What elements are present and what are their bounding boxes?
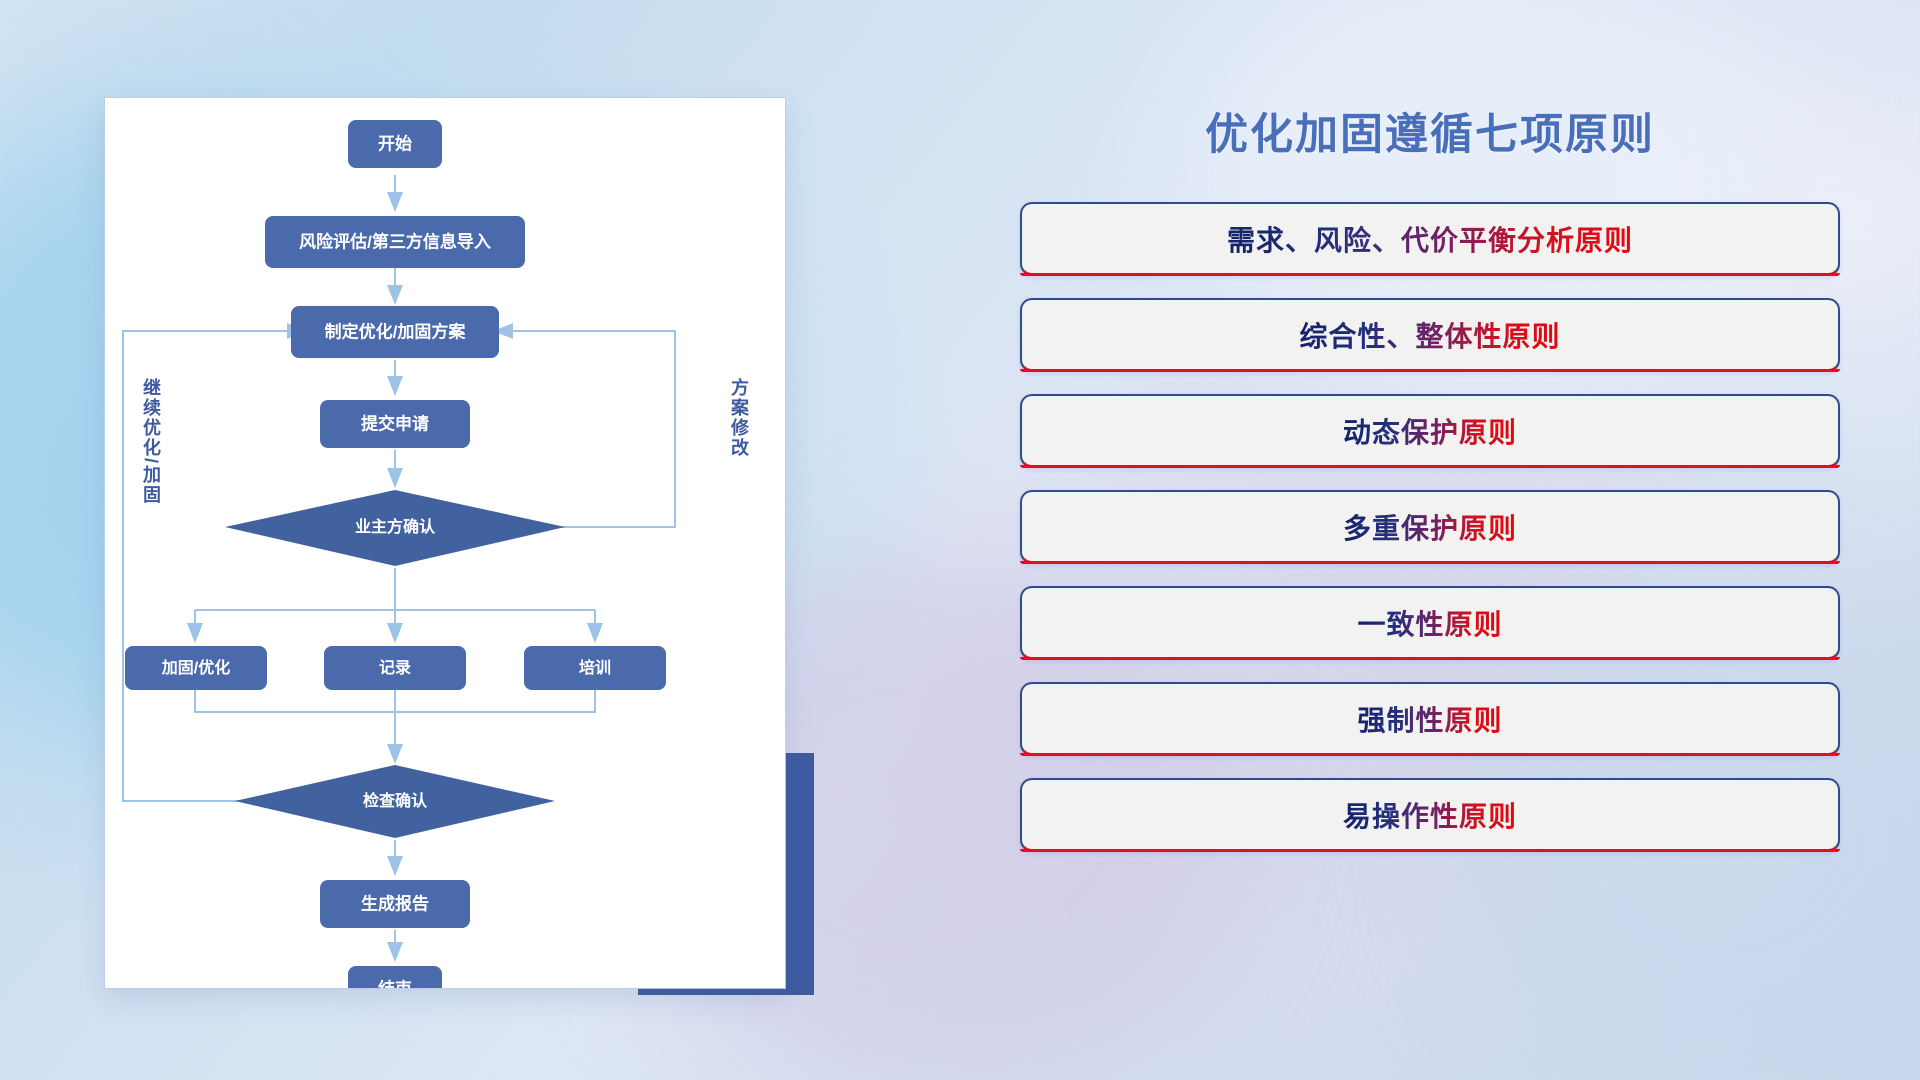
flow-node-report[interactable]: 生成报告 bbox=[320, 880, 470, 928]
flow-node-label: 检查确认 bbox=[363, 791, 428, 810]
principle-label: 一致性原则 bbox=[1357, 603, 1502, 643]
flow-node-label: 培训 bbox=[579, 658, 611, 677]
flowchart-diagram: 开始 风险评估/第三方信息导入 制定优化/加固方案 提交申请 业主方确认 加固/… bbox=[105, 98, 785, 988]
principle-label: 强制性原则 bbox=[1357, 699, 1502, 739]
flow-node-label: 加固/优化 bbox=[161, 658, 230, 677]
principle-card-5[interactable]: 一致性原则 bbox=[1020, 586, 1840, 660]
flow-node-label: 风险评估/第三方信息导入 bbox=[299, 231, 491, 251]
flow-edges bbox=[123, 175, 675, 960]
flow-node-training[interactable]: 培训 bbox=[524, 646, 666, 690]
flow-node-record[interactable]: 记录 bbox=[324, 646, 466, 690]
flow-node-risk[interactable]: 风险评估/第三方信息导入 bbox=[265, 216, 525, 268]
flow-node-label: 业主方确认 bbox=[355, 517, 436, 536]
flow-edge-label-plan-revision: 方案修改 bbox=[730, 378, 748, 458]
principle-label: 动态保护原则 bbox=[1343, 411, 1517, 451]
principle-label: 综合性、整体性原则 bbox=[1299, 315, 1560, 355]
principle-card-6[interactable]: 强制性原则 bbox=[1020, 682, 1840, 756]
principle-card-7[interactable]: 易操作性原则 bbox=[1020, 778, 1840, 852]
flow-node-start[interactable]: 开始 bbox=[348, 120, 442, 168]
flow-node-label: 生成报告 bbox=[361, 893, 429, 913]
flow-edge-label-continue-optimize: 继续优化/加固 bbox=[142, 378, 160, 505]
principle-label: 易操作性原则 bbox=[1343, 795, 1517, 835]
principle-label: 需求、风险、代价平衡分析原则 bbox=[1227, 219, 1633, 259]
principles-title: 优化加固遵循七项原则 bbox=[1020, 100, 1840, 162]
principle-card-3[interactable]: 动态保护原则 bbox=[1020, 394, 1840, 468]
flow-node-owner-confirm[interactable]: 业主方确认 bbox=[225, 490, 565, 566]
principle-card-2[interactable]: 综合性、整体性原则 bbox=[1020, 298, 1840, 372]
flow-node-label: 记录 bbox=[379, 659, 411, 677]
flow-node-label: 提交申请 bbox=[361, 413, 429, 433]
flow-node-label: 结束 bbox=[378, 978, 412, 988]
flow-node-label: 制定优化/加固方案 bbox=[325, 321, 467, 341]
flow-node-submit[interactable]: 提交申请 bbox=[320, 400, 470, 448]
flow-node-label: 开始 bbox=[378, 133, 412, 153]
flow-node-reinforce[interactable]: 加固/优化 bbox=[125, 646, 267, 690]
principle-label: 多重保护原则 bbox=[1343, 507, 1517, 547]
principles-panel: 优化加固遵循七项原则 需求、风险、代价平衡分析原则 综合性、整体性原则 动态保护… bbox=[1020, 100, 1840, 1000]
flow-node-plan[interactable]: 制定优化/加固方案 bbox=[291, 306, 499, 358]
principle-card-4[interactable]: 多重保护原则 bbox=[1020, 490, 1840, 564]
principle-card-1[interactable]: 需求、风险、代价平衡分析原则 bbox=[1020, 202, 1840, 276]
flow-node-check-confirm[interactable]: 检查确认 bbox=[235, 765, 555, 838]
flowchart-panel: 开始 风险评估/第三方信息导入 制定优化/加固方案 提交申请 业主方确认 加固/… bbox=[105, 98, 785, 988]
flow-node-end[interactable]: 结束 bbox=[348, 966, 442, 988]
